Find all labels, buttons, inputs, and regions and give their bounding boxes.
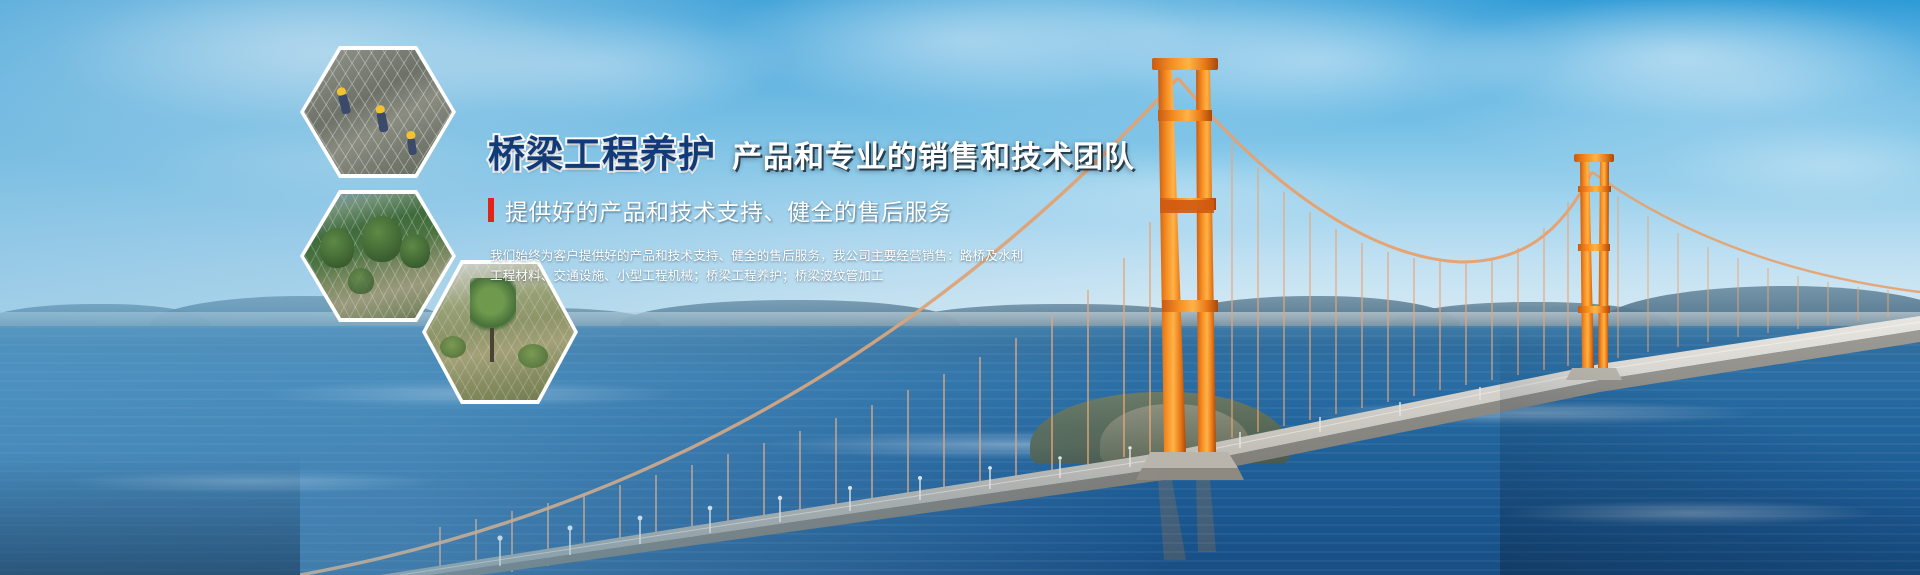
worker-figure <box>407 138 417 156</box>
bush <box>362 216 402 262</box>
headline-primary: 桥梁工程养护 <box>488 124 716 178</box>
red-accent-bar <box>488 198 494 222</box>
foreground-shadow-left <box>0 455 300 575</box>
headline-secondary: 产品和专业的销售和技术团队 <box>732 132 1135 176</box>
body-line-1: 我们始终为客户提供好的产品和技术支持、健全的售后服务，我公司主要经营销售：路桥及… <box>490 246 1248 266</box>
tree-trunk <box>490 328 494 362</box>
worker-figure <box>376 111 388 132</box>
bush <box>320 228 354 268</box>
body-line-2: 工程材料、交通设施、小型工程机械；桥梁工程养护；桥梁波纹管加工 <box>490 266 1248 286</box>
banner-subtitle: 提供好的产品和技术支持、健全的售后服务 <box>488 193 1248 227</box>
hex-photo-rock-slope <box>300 46 456 178</box>
banner-text-block: 桥梁工程养护 产品和专业的销售和技术团队 提供好的产品和技术支持、健全的售后服务… <box>488 124 1248 286</box>
banner-headline: 桥梁工程养护 产品和专业的销售和技术团队 <box>488 124 1248 178</box>
hero-banner: 桥梁工程养护 产品和专业的销售和技术团队 提供好的产品和技术支持、健全的售后服务… <box>0 0 1920 575</box>
banner-body-text: 我们始终为客户提供好的产品和技术支持、健全的售后服务，我公司主要经营销售：路桥及… <box>488 246 1248 286</box>
shrub <box>518 344 548 368</box>
worker-figure <box>338 93 352 115</box>
bush <box>348 268 374 294</box>
subtitle-text: 提供好的产品和技术支持、健全的售后服务 <box>505 193 952 227</box>
shrub <box>440 336 466 358</box>
foreground-shadow-right <box>1500 300 1920 575</box>
